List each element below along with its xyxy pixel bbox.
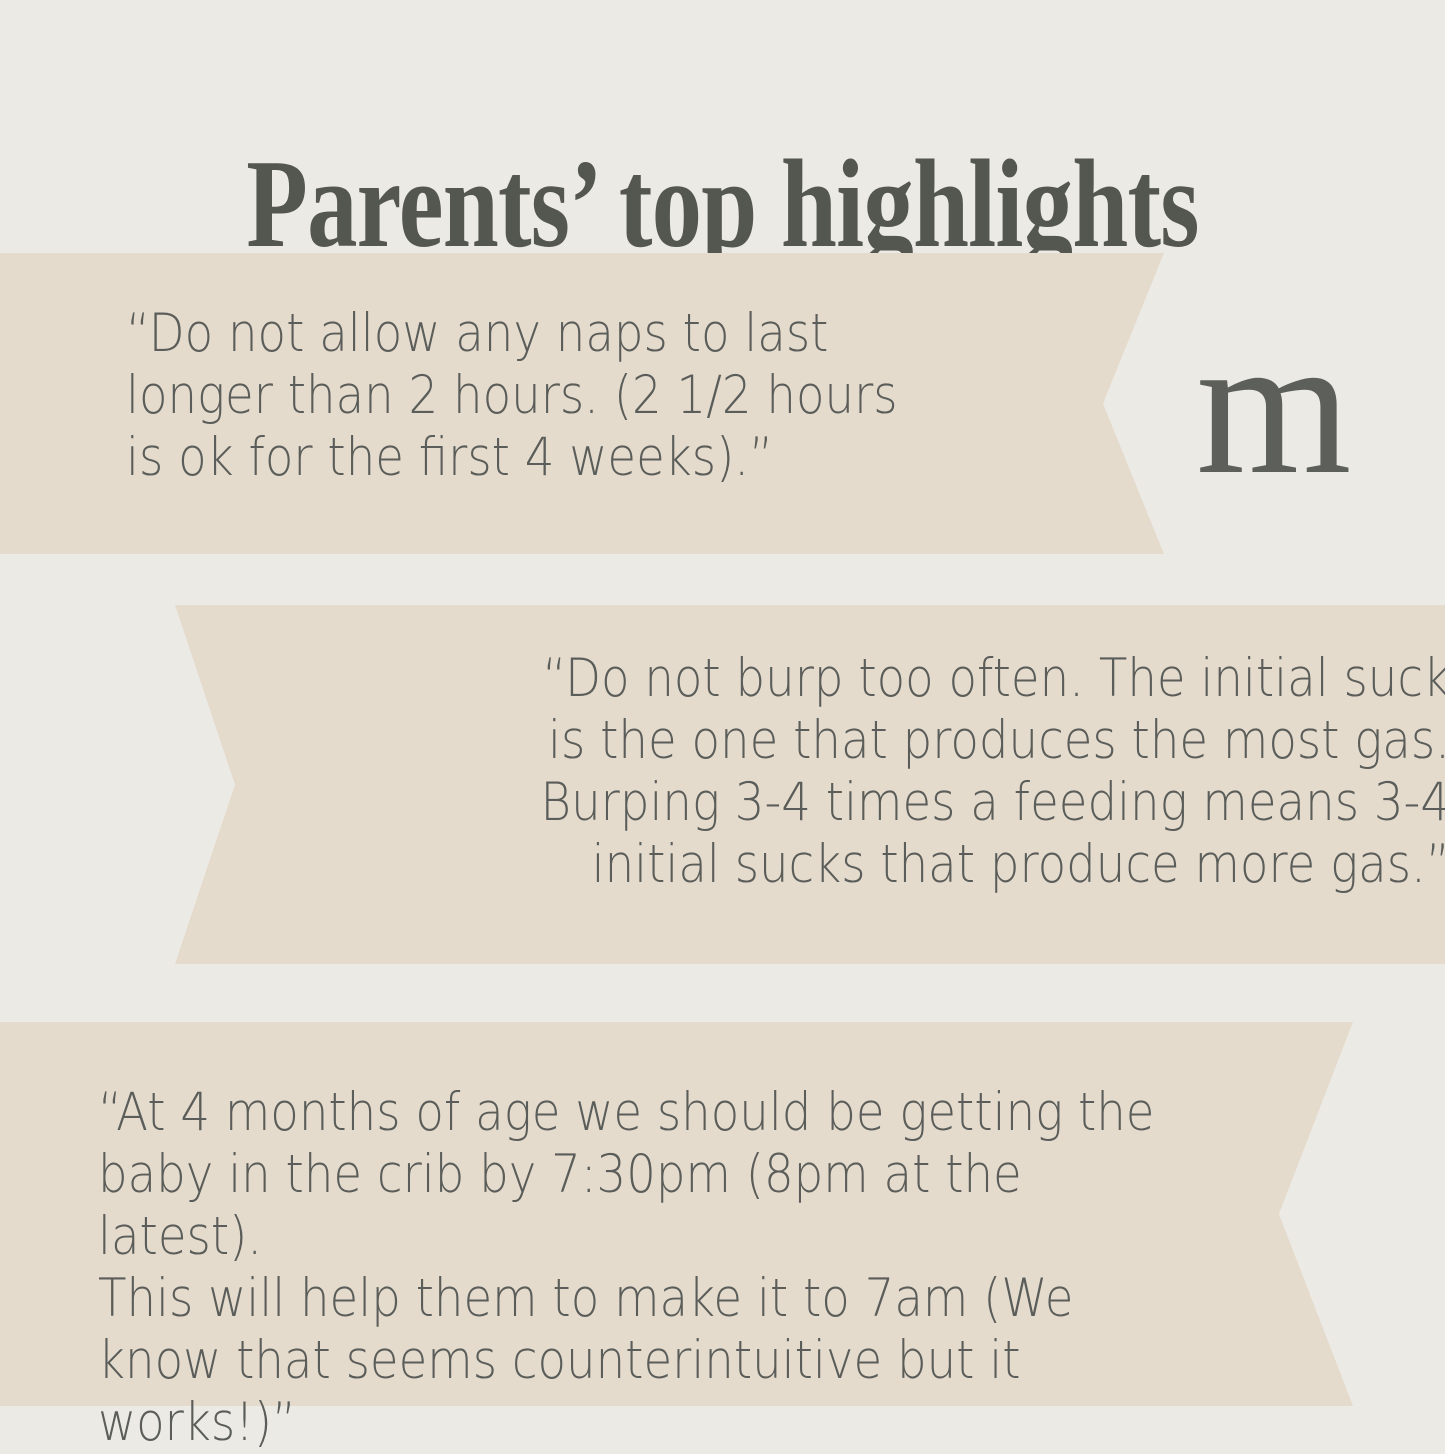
highlight-quote-bedtime: “At 4 months of age we should be getting…: [98, 1082, 1180, 1454]
highlight-quote-naps: “Do not allow any naps to last longer th…: [126, 303, 1076, 489]
poster-canvas: Parents’ top highlights “Do not allow an…: [0, 0, 1445, 1445]
highlight-quote-burping: “Do not burp too often. The initial suck…: [517, 648, 1445, 896]
monogram-m-logo: m: [1196, 316, 1396, 496]
page-title: Parents’ top highlights: [145, 142, 1301, 268]
